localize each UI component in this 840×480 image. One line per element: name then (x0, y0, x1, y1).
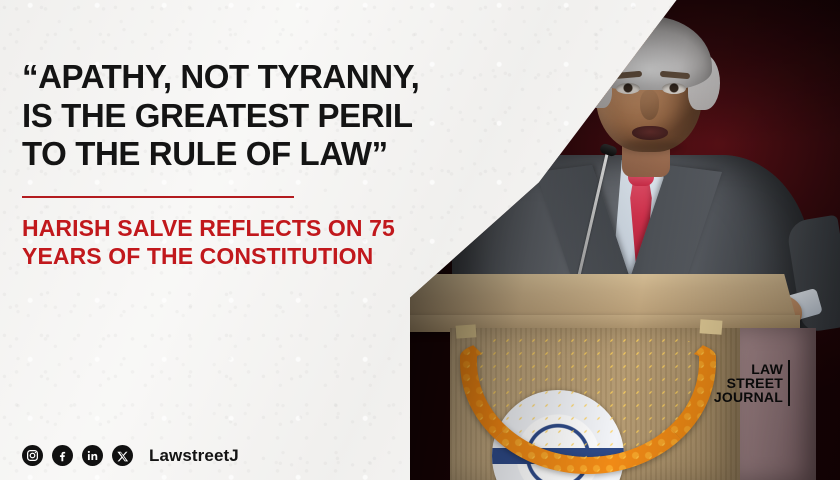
text-column: “APATHY, NOT TYRANNY, IS THE GREATEST PE… (0, 0, 470, 480)
facebook-icon[interactable] (52, 445, 73, 466)
x-twitter-icon[interactable] (112, 445, 133, 466)
watermark-line-1: LAW (714, 362, 783, 376)
watermark-logo-text: LAW STREET JOURNAL (714, 362, 783, 405)
watermark-line-2: STREET (714, 376, 783, 390)
watermark-line-3: JOURNAL (714, 390, 783, 404)
watermark-rule (788, 360, 790, 406)
headline-divider (22, 196, 294, 198)
footer-social-bar: LawstreetJ (22, 445, 239, 466)
instagram-icon[interactable] (22, 445, 43, 466)
linkedin-icon[interactable] (82, 445, 103, 466)
subheadline: HARISH SALVE REFLECTS ON 75 YEARS OF THE… (22, 214, 432, 271)
quote-card: LAW STREET JOURNAL “APATHY, NOT TYRANNY,… (0, 0, 840, 480)
headline-quote: “APATHY, NOT TYRANNY, IS THE GREATEST PE… (22, 58, 454, 174)
social-handle: LawstreetJ (149, 446, 239, 466)
watermark-logo: LAW STREET JOURNAL (714, 360, 790, 406)
